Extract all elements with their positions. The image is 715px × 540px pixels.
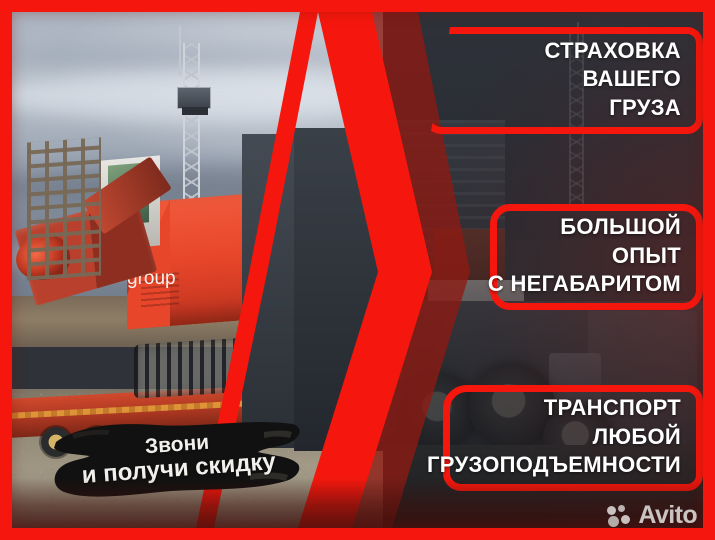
advertisement-banner: g group <box>0 0 715 540</box>
avito-watermark: Avito <box>607 503 697 528</box>
avito-wordmark: Avito <box>638 503 697 528</box>
callout-capacity: ТРАНСПОРТ ЛЮБОЙ ГРУЗОПОДЪЕМНОСТИ <box>443 385 703 491</box>
mast-antenna <box>179 25 181 77</box>
callout-line: ТРАНСПОРТ <box>544 394 681 423</box>
callout-insurance: СТРАХОВКА ВАШЕГО ГРУЗА <box>422 27 703 134</box>
callout-line: БОЛЬШОЙ <box>560 213 681 242</box>
callout-line: ГРУЗОПОДЪЕМНОСТИ <box>427 451 681 480</box>
discount-badge: Звони и получи скидку <box>52 412 304 504</box>
callout-experience: БОЛЬШОЙ ОПЫТ С НЕГАБАРИТОМ <box>490 204 703 310</box>
callout-line: ЛЮБОЙ <box>593 423 681 452</box>
discount-badge-text: Звони и получи скидку <box>49 403 307 513</box>
machine-rear-block <box>294 128 383 451</box>
machine-rear-panel <box>242 134 298 448</box>
callout-line: ВАШЕГО <box>582 65 681 94</box>
callout-line: С НЕГАБАРИТОМ <box>488 270 681 299</box>
badge-line-2: и получи скидку <box>81 449 277 489</box>
callout-line: ОПЫТ <box>612 242 681 271</box>
trailer-headboard <box>27 138 101 281</box>
callout-line: ГРУЗА <box>609 94 681 123</box>
rig-assembly: g group <box>12 146 383 445</box>
mast-platform <box>177 87 211 109</box>
avito-dots-icon <box>607 505 633 527</box>
callout-line: СТРАХОВКА <box>544 37 681 66</box>
